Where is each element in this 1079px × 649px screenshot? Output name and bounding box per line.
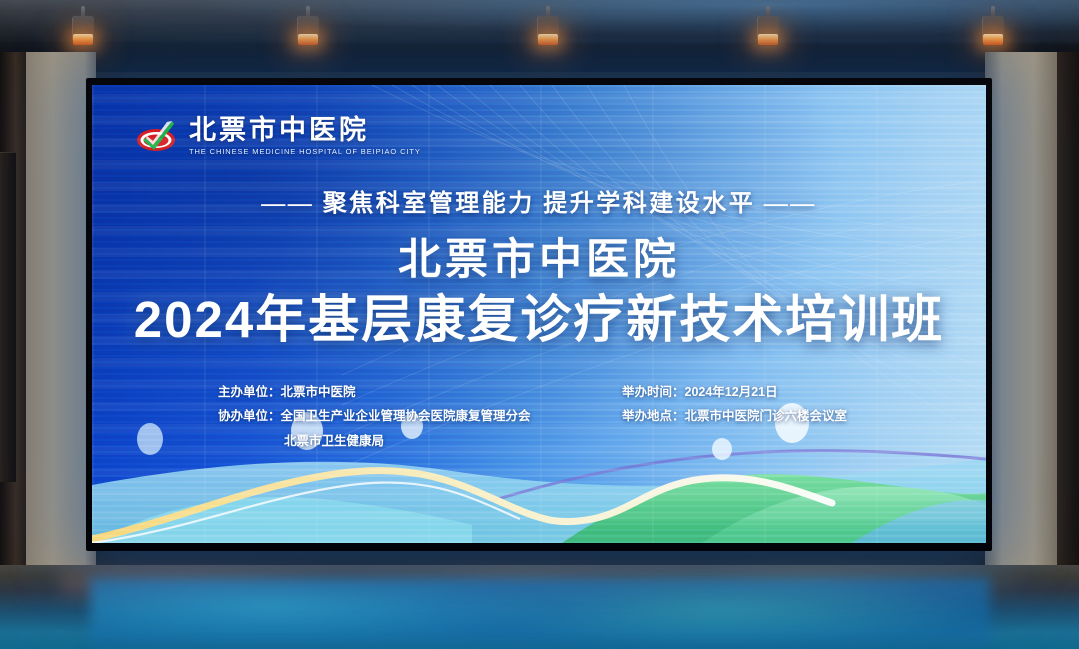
- conference-room-photo: 北票市中医院 THE CHINESE MEDICINE HOSPITAL OF …: [0, 0, 1079, 649]
- led-scanlines: [92, 85, 986, 543]
- spotlight-icon: [295, 6, 321, 50]
- led-screen-bezel: 北票市中医院 THE CHINESE MEDICINE HOSPITAL OF …: [86, 78, 992, 551]
- left-wall: [0, 52, 96, 612]
- led-screen: 北票市中医院 THE CHINESE MEDICINE HOSPITAL OF …: [92, 85, 986, 543]
- right-wall: [985, 52, 1079, 612]
- spotlight-icon: [980, 6, 1006, 50]
- floor-screen-reflection: [90, 578, 990, 649]
- right-wall-trim: [1057, 52, 1079, 612]
- spotlight-icon: [535, 6, 561, 50]
- spotlight-icon: [755, 6, 781, 50]
- left-door: [0, 152, 16, 482]
- spotlight-icon: [70, 6, 96, 50]
